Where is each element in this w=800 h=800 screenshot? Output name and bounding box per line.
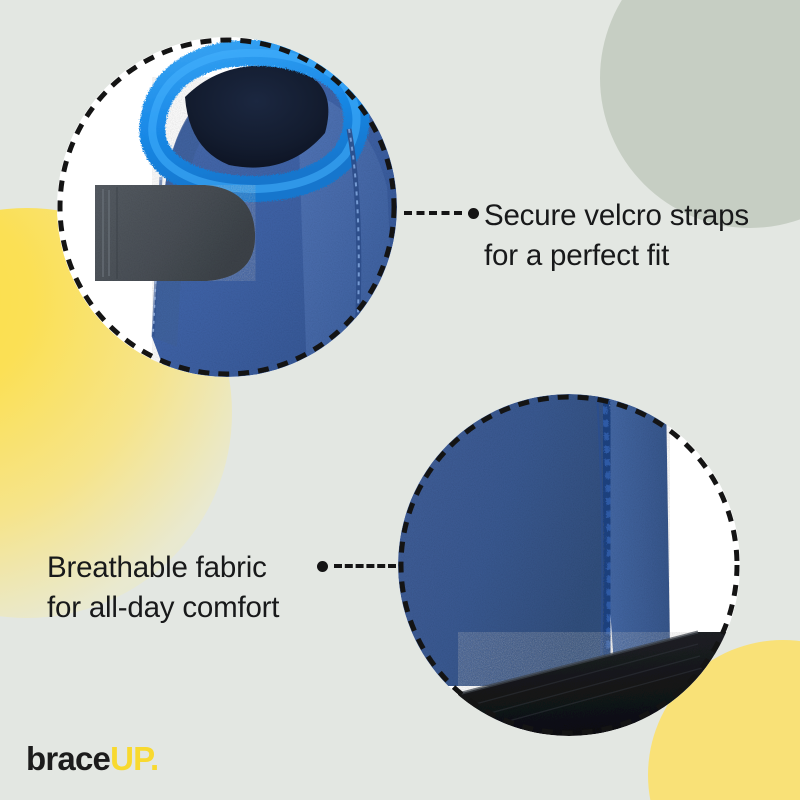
photo-fabric-closeup [398, 394, 740, 736]
brand-logo: braceUP. [26, 742, 158, 775]
photo-velcro-closeup [57, 37, 397, 377]
photo-velcro-image [57, 37, 397, 377]
callout-text-breathable-fabric: Breathable fabric for all-day comfort [47, 548, 347, 627]
logo-text-brace: brace [26, 740, 110, 777]
connector-dot [468, 208, 479, 219]
logo-text-up: UP. [110, 740, 158, 777]
callout-connector-velcro [404, 206, 480, 220]
connector-dashed-line [404, 211, 462, 215]
photo-fabric-image [398, 394, 740, 736]
sage-circle-decoration [600, 0, 800, 228]
fabric-texture-artwork [398, 394, 740, 736]
infographic-canvas: Secure velcro straps for a perfect fit B… [0, 0, 800, 800]
brace-collar-artwork [57, 37, 397, 377]
callout-text-velcro-straps: Secure velcro straps for a perfect fit [484, 196, 784, 275]
